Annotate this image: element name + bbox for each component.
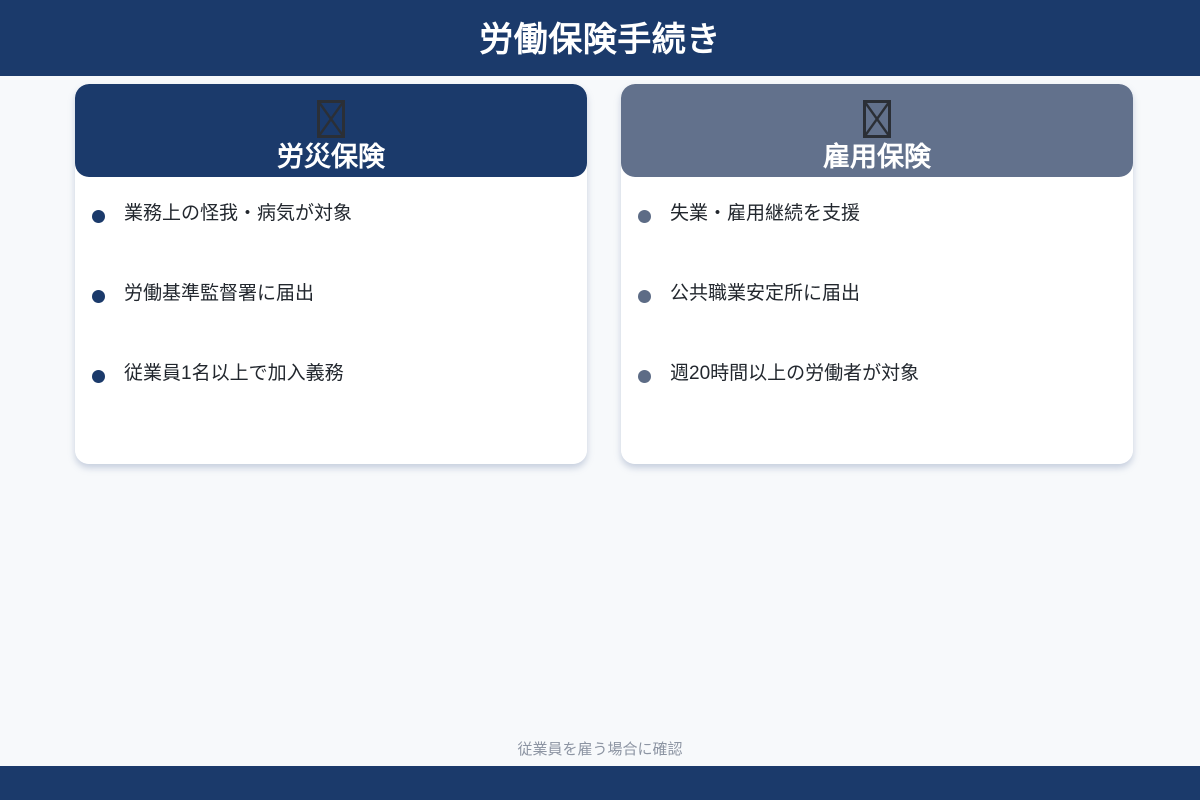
bullet-dot-icon [92,210,105,223]
list-item: 労働基準監督署に届出 [75,279,587,359]
list-item: 業務上の怪我・病気が対象 [75,199,587,279]
feature-list-rousai-hoken: 業務上の怪我・病気が対象 労働基準監督署に届出 従業員1名以上で加入義務 [75,199,587,439]
bullet-dot-icon [638,370,651,383]
bullet-dot-icon [638,290,651,303]
list-item-label: 週20時間以上の労働者が対象 [670,359,919,389]
list-item: 週20時間以上の労働者が対象 [621,359,1133,439]
list-item-label: 公共職業安定所に届出 [670,279,860,309]
card-body-koyou-hoken: 失業・雇用継続を支援 公共職業安定所に届出 週20時間以上の労働者が対象 [621,177,1133,464]
card-koyou-hoken[interactable]: 雇用保険 失業・雇用継続を支援 公共職業安定所に届出 週20時間以上の労働者が対… [621,84,1133,464]
feature-list-koyou-hoken: 失業・雇用継続を支援 公共職業安定所に届出 週20時間以上の労働者が対象 [621,199,1133,439]
list-item: 失業・雇用継続を支援 [621,199,1133,279]
list-item-label: 従業員1名以上で加入義務 [124,359,344,389]
bullet-dot-icon [638,210,651,223]
page-header-bar: 労働保険手続き [0,0,1200,76]
card-title-rousai-hoken: 労災保険 [277,142,385,173]
bullet-dot-icon [92,370,105,383]
list-item-label: 労働基準監督署に届出 [124,279,314,309]
missing-glyph-box-icon [317,100,345,138]
list-item: 従業員1名以上で加入義務 [75,359,587,439]
card-title-koyou-hoken: 雇用保険 [823,142,931,173]
list-item: 公共職業安定所に届出 [621,279,1133,359]
card-body-rousai-hoken: 業務上の怪我・病気が対象 労働基準監督署に届出 従業員1名以上で加入義務 [75,177,587,464]
bullet-dot-icon [92,290,105,303]
list-item-label: 失業・雇用継続を支援 [670,199,860,229]
card-rousai-hoken[interactable]: 労災保険 業務上の怪我・病気が対象 労働基準監督署に届出 従業員1名以上で加入義… [75,84,587,464]
card-header-koyou-hoken: 雇用保険 [621,84,1133,177]
card-header-rousai-hoken: 労災保険 [75,84,587,177]
missing-glyph-box-icon [863,100,891,138]
footer-note: 従業員を雇う場合に確認 [0,742,1200,757]
list-item-label: 業務上の怪我・病気が対象 [124,199,352,229]
page-title: 労働保険手続き [479,23,721,57]
page-footer-bar [0,766,1200,800]
comparison-cards-container: 労災保険 業務上の怪我・病気が対象 労働基準監督署に届出 従業員1名以上で加入義… [75,84,1133,464]
